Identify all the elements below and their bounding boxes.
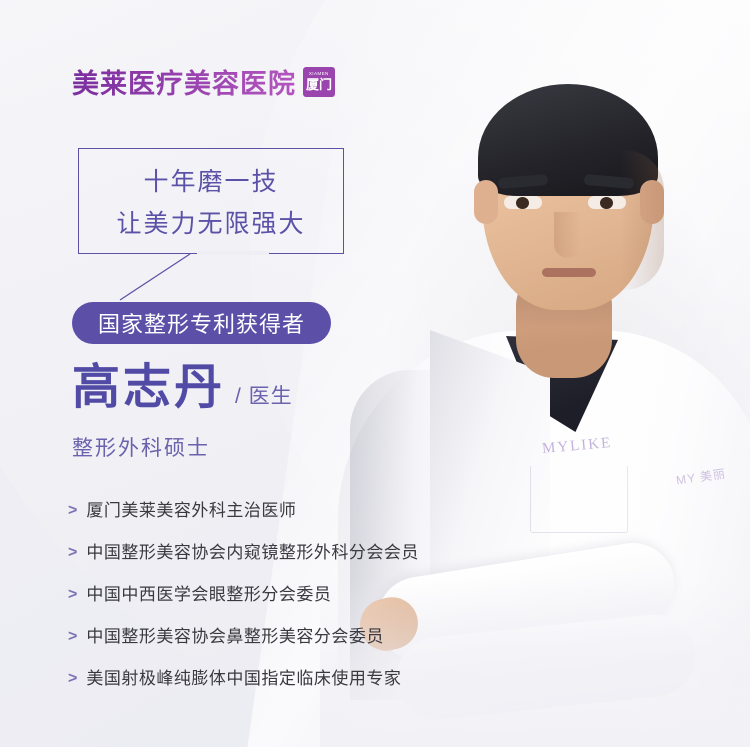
credential-text: 中国整形美容协会鼻整形美容分会委员 [86, 626, 384, 649]
lab-coat-pocket [530, 466, 628, 533]
nose [554, 212, 582, 258]
promo-poster: MYLIKE MY 美丽 美莱医疗美容医院 XIAMEN 厦门 十年磨一技 让美… [0, 0, 750, 747]
speech-bubble-tail [118, 254, 192, 302]
credential-text: 中国中西医学会眼整形分会委员 [86, 584, 331, 607]
credential-text: 中国整形美容协会内窥镜整形外科分会会员 [86, 542, 419, 565]
list-item: > 中国中西医学会眼整形分会委员 [68, 584, 419, 607]
slogan-line-1: 十年磨一技 [143, 162, 278, 198]
doctor-role: / 医生 [235, 380, 293, 410]
eye-right [588, 196, 626, 209]
doctor-name: 高志丹 [72, 364, 225, 412]
brand-logo: 美莱医疗美容医院 XIAMEN 厦门 [72, 62, 335, 101]
bubble-border-gap [197, 251, 269, 255]
mouth [542, 268, 596, 277]
slogan-bubble: 十年磨一技 让美力无限强大 [78, 148, 344, 254]
city-badge: XIAMEN 厦门 [303, 67, 335, 97]
ear-left [474, 180, 498, 224]
city-badge-cn: 厦门 [306, 78, 332, 91]
credential-text: 美国射极峰纯膨体中国指定临床使用专家 [86, 668, 401, 691]
doctor-name-row: 高志丹 / 医生 [72, 364, 293, 412]
brand-name: 美莱医疗美容医院 [72, 62, 296, 101]
credentials-list: > 厦门美莱美容外科主治医师 > 中国整形美容协会内窥镜整形外科分会会员 > 中… [68, 500, 419, 691]
list-item: > 美国射极峰纯膨体中国指定临床使用专家 [68, 668, 419, 691]
slogan-text-group: 十年磨一技 让美力无限强大 [79, 149, 343, 253]
chevron-right-icon: > [68, 542, 77, 564]
credential-text: 厦门美莱美容外科主治医师 [86, 500, 296, 523]
doctor-subtitle: 整形外科硕士 [72, 432, 210, 462]
chevron-right-icon: > [68, 584, 77, 606]
list-item: > 中国整形美容协会鼻整形美容分会委员 [68, 626, 419, 649]
city-badge-en: XIAMEN [309, 72, 329, 77]
chevron-right-icon: > [68, 668, 77, 690]
award-badge: 国家整形专利获得者 [72, 302, 331, 344]
list-item: > 厦门美莱美容外科主治医师 [68, 500, 419, 523]
slogan-line-2: 让美力无限强大 [116, 204, 305, 240]
list-item: > 中国整形美容协会内窥镜整形外科分会会员 [68, 542, 419, 565]
award-badge-label: 国家整形专利获得者 [98, 307, 305, 339]
chevron-right-icon: > [68, 626, 77, 648]
cheek-shading [620, 150, 664, 290]
eye-left [504, 196, 542, 209]
chevron-right-icon: > [68, 500, 77, 522]
